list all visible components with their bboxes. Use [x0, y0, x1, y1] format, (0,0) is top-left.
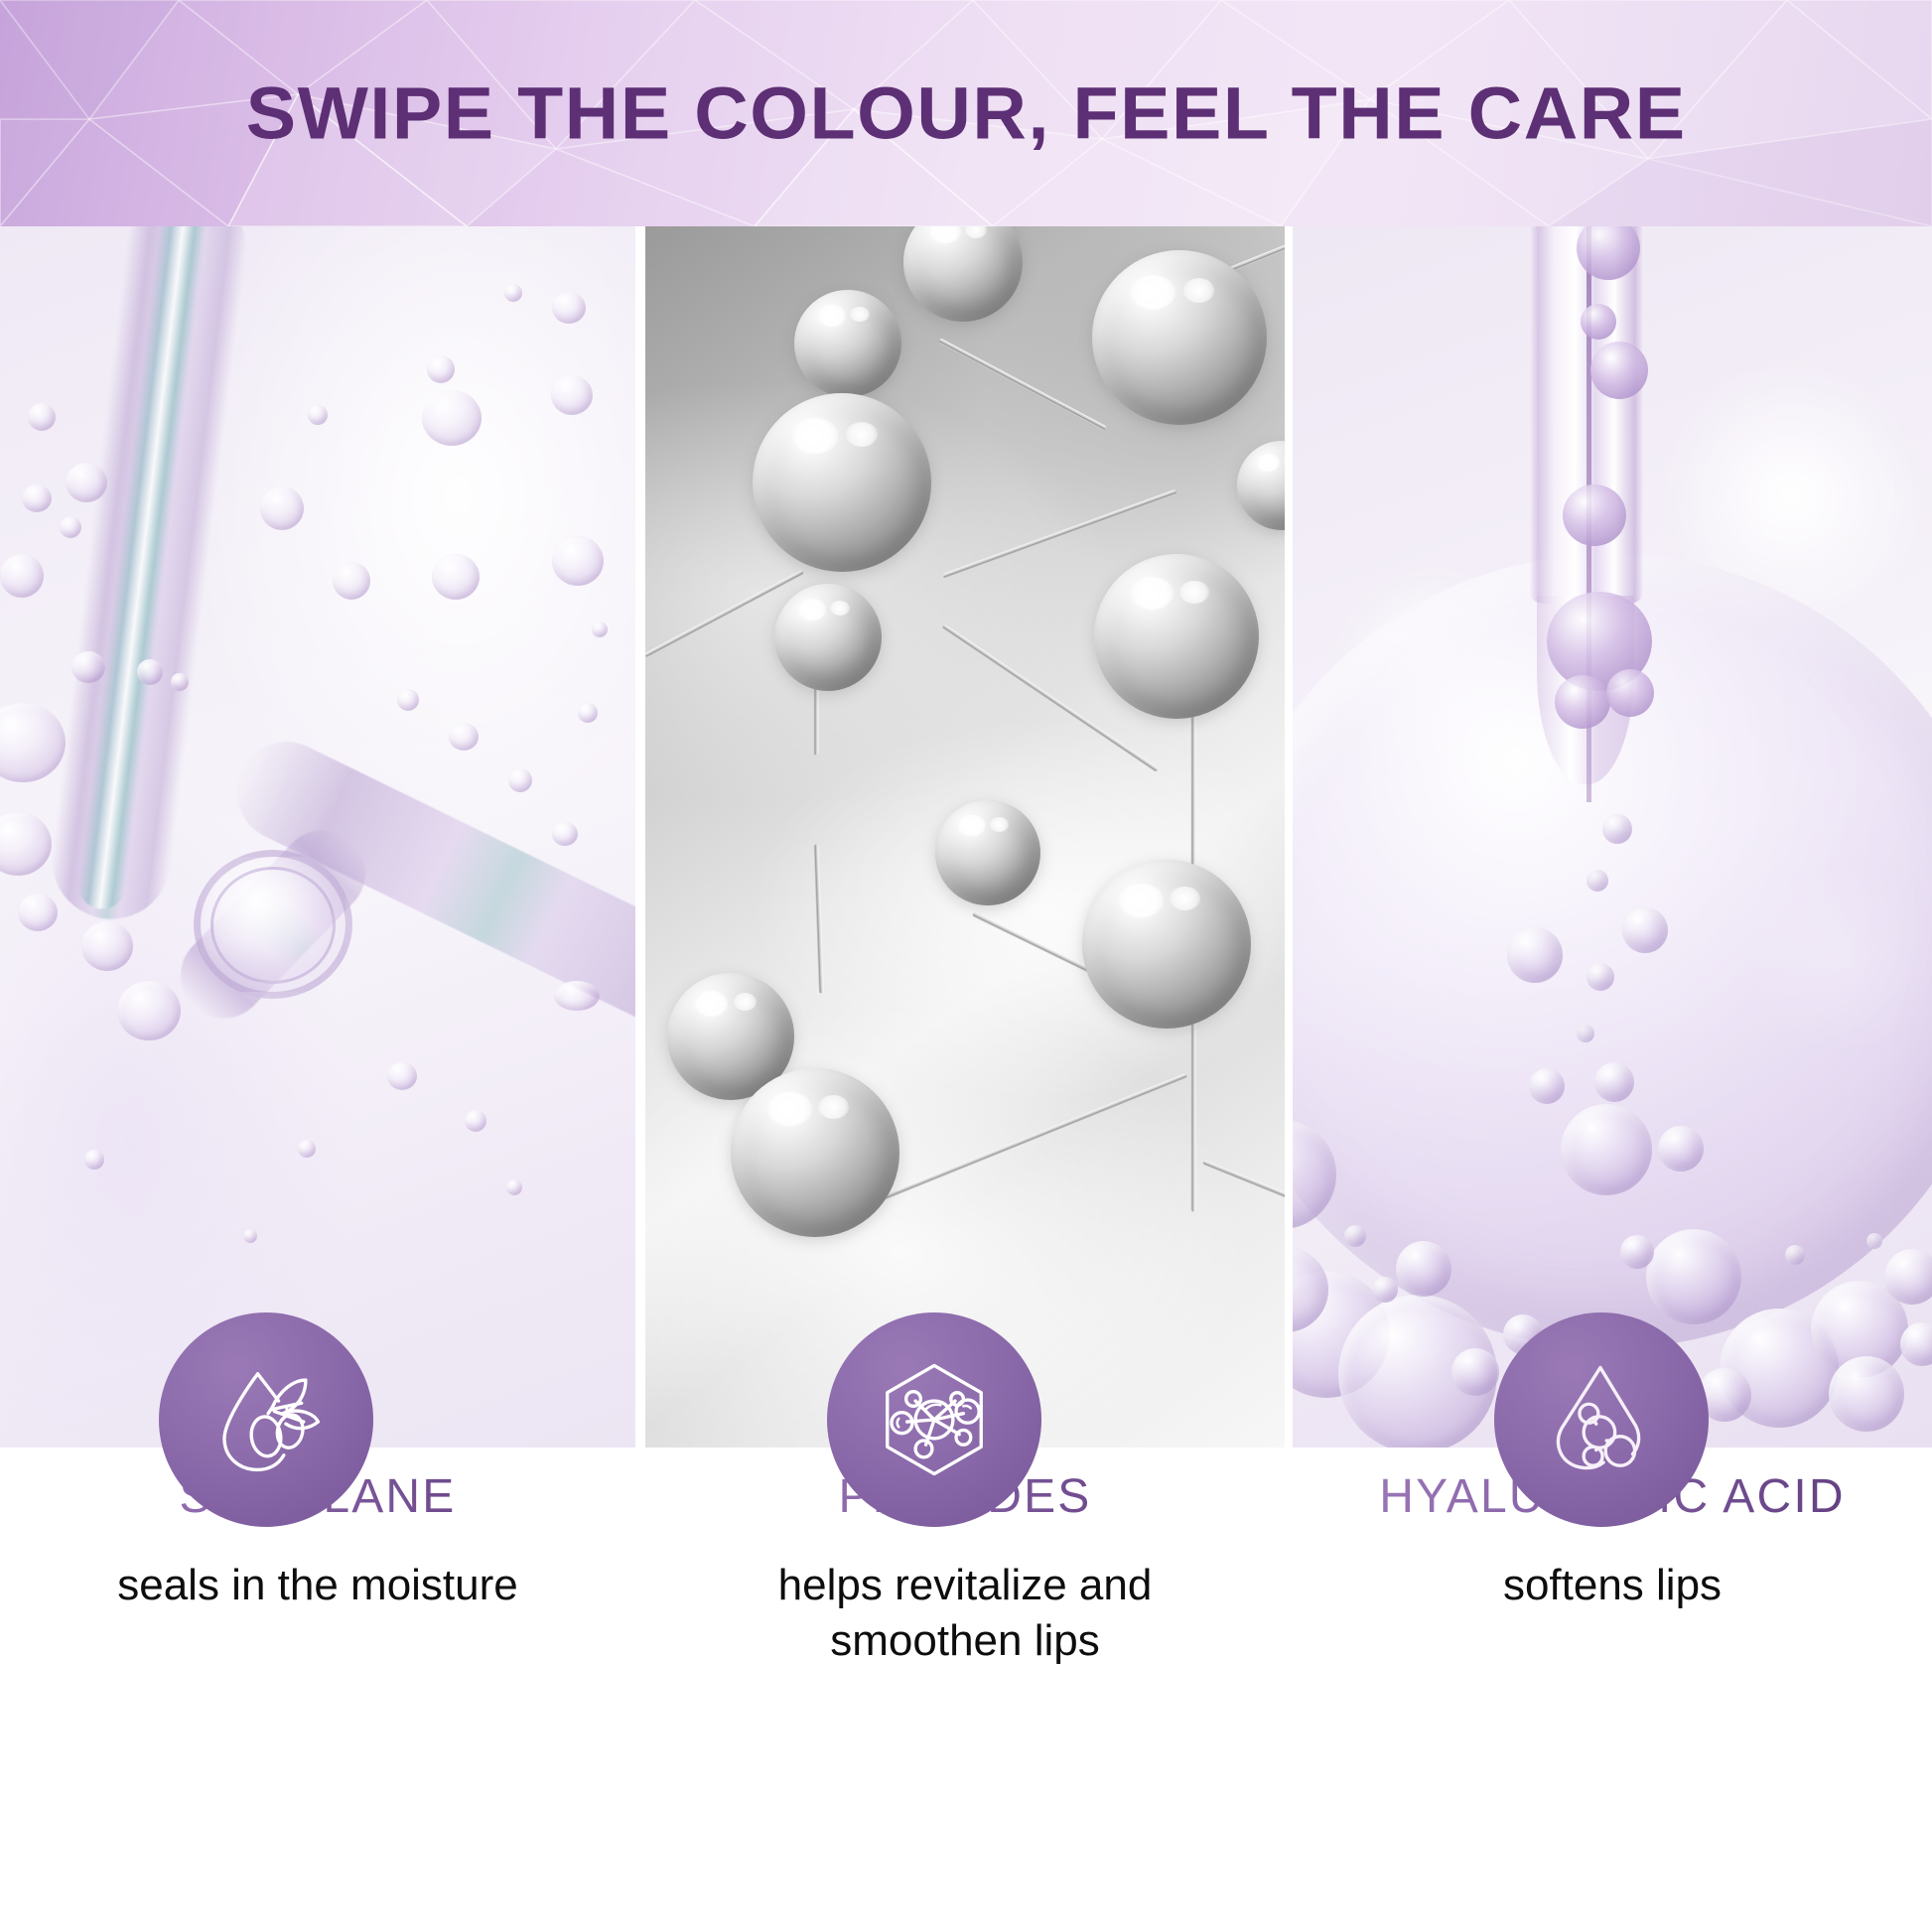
gel-bubble: [22, 484, 52, 512]
gel-bubble: [81, 921, 133, 971]
header-banner: SWIPE THE COLOUR, FEEL THE CARE: [0, 0, 1932, 226]
molecule-sphere-large: [753, 393, 931, 572]
ingredient-description-peptides: helps revitalize and smoothen lips: [687, 1558, 1243, 1670]
rising-bubble: [1529, 1068, 1565, 1104]
pipette-bubble: [1606, 669, 1654, 717]
rising-bubble: [1507, 927, 1563, 983]
gel-bubble: [0, 554, 44, 598]
icon-badge-squalane: [159, 1312, 373, 1527]
foam-bubble: [1396, 1241, 1451, 1297]
molecule-sphere-large: [1092, 250, 1267, 425]
rising-bubble: [1620, 1235, 1654, 1269]
gel-bubble: [71, 651, 105, 683]
gel-bubble: [66, 463, 107, 502]
gel-bubble: [578, 703, 598, 723]
gel-bubble: [171, 673, 189, 691]
gel-bubble: [298, 1140, 316, 1158]
gel-bubble: [592, 621, 608, 637]
gel-bubble: [508, 768, 532, 792]
ingredient-description-hyaluronic: softens lips: [1293, 1558, 1932, 1613]
icon-badge-peptides: [827, 1312, 1041, 1527]
gel-bubble: [308, 405, 328, 425]
gel-bubble: [506, 1179, 522, 1195]
gel-bubble: [137, 659, 163, 685]
gel-bubble: [427, 355, 455, 383]
panel-peptides-image: [645, 226, 1285, 1448]
foam-bubble: [1344, 1225, 1366, 1247]
panel-hyaluronic-image: [1293, 226, 1932, 1448]
caption-row: SQUALANE seals in the moisture PEPTIDES …: [0, 1469, 1932, 1932]
gel-bubble: [432, 554, 480, 600]
rising-bubble: [1577, 1025, 1594, 1042]
page-title: SWIPE THE COLOUR, FEEL THE CARE: [0, 71, 1932, 156]
gel-bubble: [449, 723, 479, 751]
molecule-sphere-large: [731, 1068, 899, 1237]
rising-bubble: [1561, 1104, 1652, 1195]
gel-bubble: [554, 981, 600, 1011]
molecule-sphere-large: [1094, 554, 1259, 719]
pipette-bubble: [1555, 675, 1610, 729]
foam-bubble: [1866, 1233, 1882, 1249]
molecule-sphere-large: [1082, 860, 1251, 1029]
foam-bubble: [1451, 1348, 1499, 1396]
rising-bubble: [1646, 1229, 1741, 1324]
ingredient-description-squalane: seals in the moisture: [0, 1558, 635, 1613]
gel-bubble: [552, 292, 586, 324]
icon-badge-hyaluronic: [1494, 1312, 1709, 1527]
ingredient-infographic: SWIPE THE COLOUR, FEEL THE CARE: [0, 0, 1932, 1932]
gel-bubble: [18, 894, 58, 931]
foam-bubble: [1884, 1249, 1932, 1305]
gel-bubble: [117, 981, 181, 1040]
panel-squalane-image: [0, 226, 635, 1448]
molecule-sphere-small: [774, 584, 882, 691]
gel-bubble: [84, 1150, 104, 1170]
foam-bubble: [1829, 1356, 1904, 1432]
page-title-text: SWIPE THE COLOUR, FEEL THE CARE: [246, 71, 1687, 156]
gel-ring-inner: [210, 867, 336, 984]
rising-bubble: [1658, 1126, 1704, 1172]
molecule-sphere-small: [794, 290, 901, 397]
pipette-bubble: [1581, 304, 1616, 340]
hexagon-molecule-icon: [872, 1357, 997, 1482]
rising-bubble: [1622, 907, 1668, 953]
gel-bubble: [333, 562, 370, 600]
rising-bubble: [1587, 963, 1614, 991]
gel-bubble: [60, 516, 81, 538]
gel-bubble: [422, 390, 482, 446]
droplet-molecule-icon: [1539, 1357, 1664, 1482]
gel-bubble: [260, 486, 304, 530]
gel-bubble: [243, 1229, 257, 1243]
rising-bubble: [1602, 814, 1632, 844]
foam-bubble: [1372, 1277, 1398, 1303]
gel-bubble: [551, 375, 593, 415]
pipette-bubble: [1563, 484, 1626, 546]
gel-bubble: [552, 822, 578, 846]
gel-bubble: [504, 284, 522, 302]
molecule-sphere-small: [935, 800, 1040, 905]
rising-bubble: [1587, 870, 1608, 892]
foam-bubble: [1785, 1245, 1805, 1265]
gel-bubble: [552, 536, 604, 586]
gel-bubble: [387, 1062, 417, 1090]
image-panel-row: [0, 226, 1932, 1448]
rising-bubble: [1594, 1062, 1634, 1102]
gel-bubble: [28, 403, 56, 431]
gel-bubble: [397, 689, 419, 711]
gel-bubble: [465, 1110, 486, 1132]
droplet-olive-branch-icon: [204, 1357, 329, 1482]
pipette-bubble: [1590, 342, 1648, 399]
